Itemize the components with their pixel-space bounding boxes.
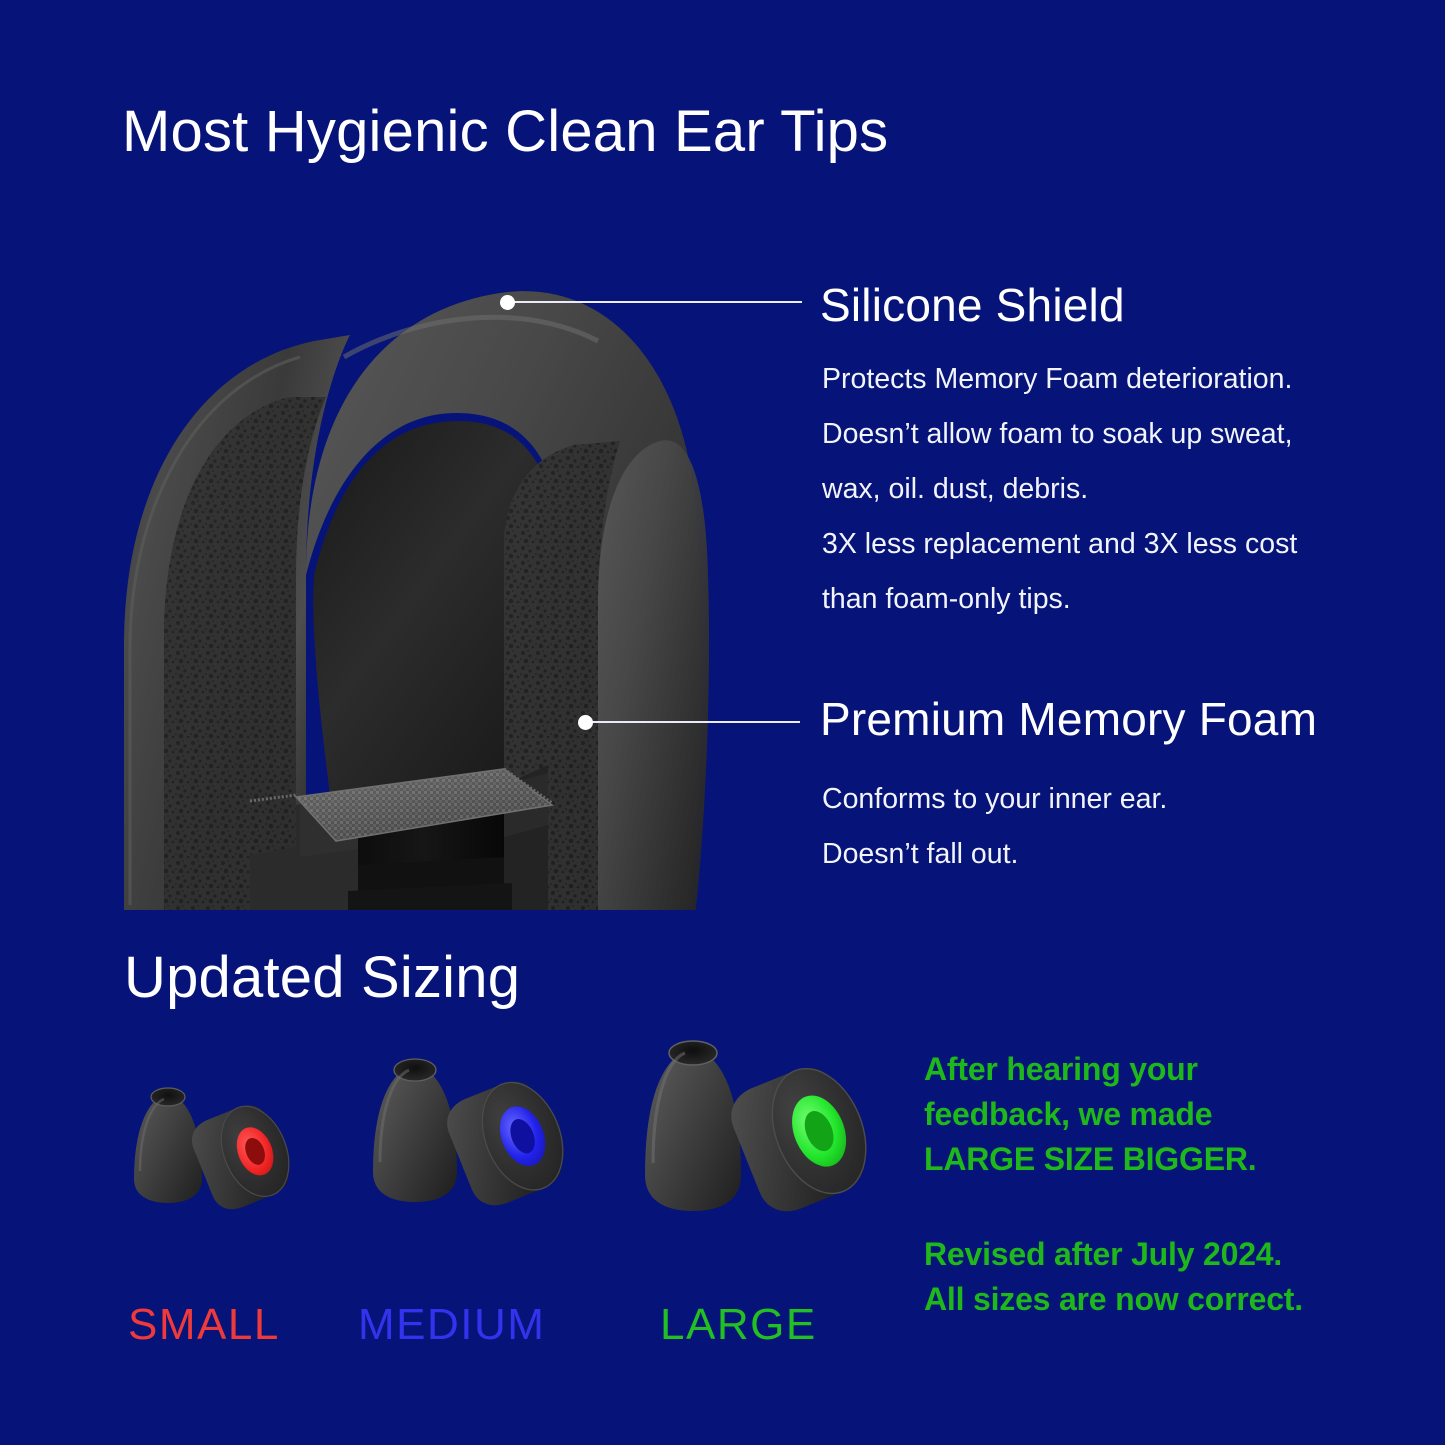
size-label-large: LARGE bbox=[660, 1300, 817, 1350]
leader-line-memory-foam bbox=[592, 721, 800, 723]
callout-body-silicone-shield: Protects Memory Foam deterioration. Does… bbox=[822, 352, 1297, 627]
leader-dot-icon bbox=[500, 295, 515, 310]
callout-line: Doesn’t allow foam to soak up sweat, bbox=[822, 407, 1297, 462]
promo-line: feedback, we made bbox=[924, 1092, 1256, 1137]
infographic-page: Most Hygienic Clean Ear Tips bbox=[0, 0, 1445, 1445]
callout-body-premium-memory-foam: Conforms to your inner ear. Doesn’t fall… bbox=[822, 772, 1167, 882]
callout-line: Doesn’t fall out. bbox=[822, 827, 1167, 882]
callout-title-premium-memory-foam: Premium Memory Foam bbox=[820, 692, 1317, 746]
page-title: Most Hygienic Clean Ear Tips bbox=[122, 98, 888, 165]
promo-message-large-size: After hearing your feedback, we made LAR… bbox=[924, 1047, 1256, 1182]
leader-dot-icon bbox=[578, 715, 593, 730]
ear-tip-cutaway-illustration bbox=[100, 245, 740, 910]
callout-line: wax, oil. dust, debris. bbox=[822, 462, 1297, 517]
callout-line: Conforms to your inner ear. bbox=[822, 772, 1167, 827]
promo-line: LARGE SIZE BIGGER. bbox=[924, 1137, 1256, 1182]
promo-line: All sizes are now correct. bbox=[924, 1277, 1303, 1322]
size-label-small: SMALL bbox=[128, 1300, 280, 1350]
promo-line: After hearing your bbox=[924, 1047, 1256, 1092]
promo-message-revision-note: Revised after July 2024. All sizes are n… bbox=[924, 1232, 1303, 1322]
promo-line: Revised after July 2024. bbox=[924, 1232, 1303, 1277]
ear-tip-pair-medium bbox=[355, 1050, 605, 1270]
ear-tip-pair-small bbox=[120, 1075, 330, 1265]
callout-title-silicone-shield: Silicone Shield bbox=[820, 278, 1125, 332]
section-title-updated-sizing: Updated Sizing bbox=[124, 944, 520, 1011]
size-label-medium: MEDIUM bbox=[358, 1300, 545, 1350]
callout-line: 3X less replacement and 3X less cost bbox=[822, 517, 1297, 572]
callout-line: Protects Memory Foam deterioration. bbox=[822, 352, 1297, 407]
leader-line-silicone bbox=[512, 301, 802, 303]
callout-line: than foam-only tips. bbox=[822, 572, 1297, 627]
ear-tip-pair-large bbox=[625, 1035, 915, 1280]
